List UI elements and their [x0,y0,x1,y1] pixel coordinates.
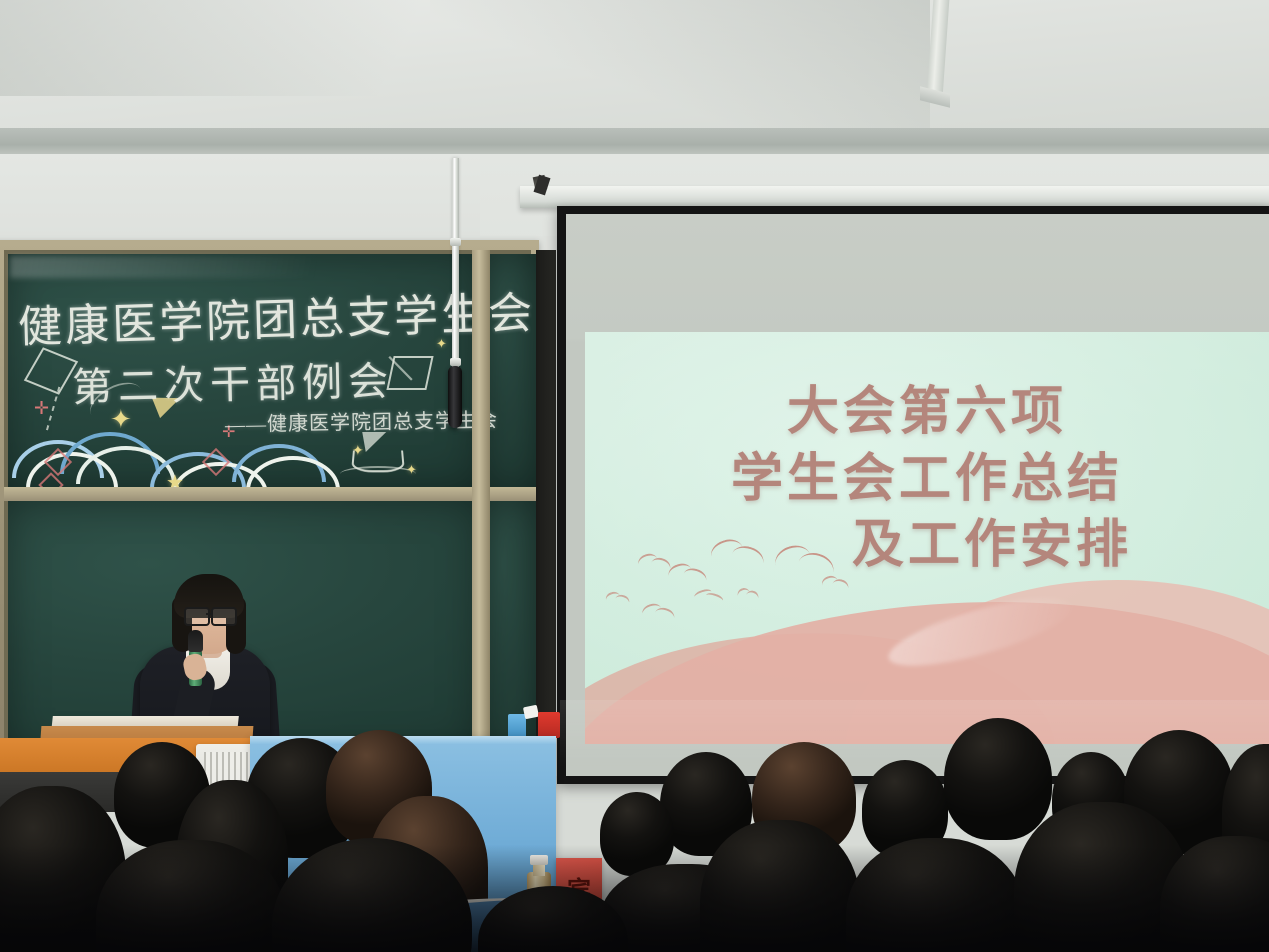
bird-icon-6 [693,590,713,597]
star-drawing-3: ✦ [352,442,364,459]
ceiling-beam [0,128,1269,156]
blackboard-divider-horizontal [4,487,536,501]
blackboard-divider-vertical [472,250,490,758]
ledge-item-blue [508,714,526,738]
plus-drawing-1: ✛ [34,398,49,419]
classroom-photo: ✦ ★ ✦ ✦ ✦ ✛ ✛ 健康医学院团总支学生会 第二次干部例会 ——健康医学… [0,0,1269,952]
audience-head [944,718,1052,840]
handheld-microphone-head-icon [188,630,203,652]
bird-icon-7 [737,588,751,599]
boat-water-drawing [340,466,416,482]
blackboard-edge-shadow [536,250,556,770]
glasses-lens-right-icon [211,607,237,626]
slide-title-line1: 大会第六项 [585,380,1269,447]
glasses-bridge-icon [206,613,212,615]
presentation-slide: 大会第六项 学生会工作总结 及工作安排 [585,332,1269,744]
ledge-item-red [538,712,560,738]
slide-title: 大会第六项 学生会工作总结 及工作安排 [585,380,1269,580]
bird-icon-5 [641,604,663,617]
blackboard-title-line2: 第二次干部例会 [71,349,394,414]
audience-foreground-shadow [0,845,1269,952]
pole-joint-lower [450,358,461,366]
bird-icon-4 [605,592,621,602]
projector-screen-housing[interactable] [520,186,1269,208]
paper-boat-sail-drawing [362,432,390,452]
slide-title-line3: 及工作安排 [715,513,1269,580]
slide-title-line2: 学生会工作总结 [585,447,1269,514]
pole-joint-upper [450,238,461,246]
star-drawing-5: ✦ [406,462,417,478]
glasses-lens-left-icon [184,607,210,626]
blackboard-glare [10,256,450,278]
hanging-microphone-icon [448,366,462,428]
